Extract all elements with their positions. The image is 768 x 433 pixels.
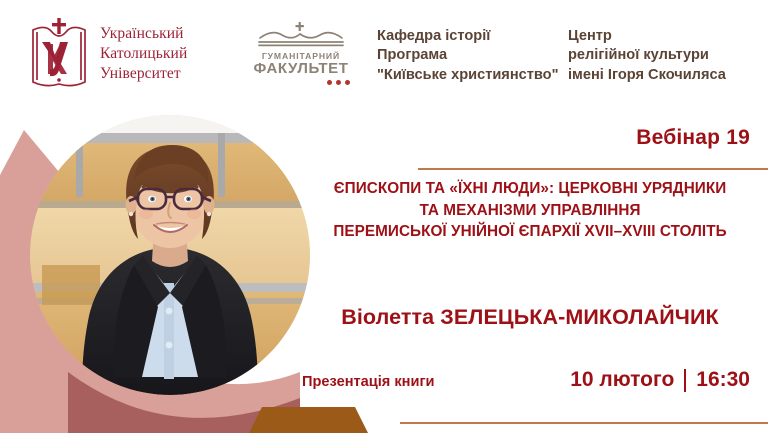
ucu-book-monogram-logo-icon [26,14,92,94]
open-book-icon [256,22,346,48]
header-dept-line-3: "Київське християнство" [377,66,559,85]
divider-top [418,168,768,170]
ucu-logo: Український Католицький Університет [26,14,187,94]
ucu-name: Український Католицький Університет [100,24,187,84]
page-title: ЄПИСКОПИ ТА «ЇХНІ ЛЮДИ»: ЦЕРКОВНІ УРЯДНИ… [292,178,768,243]
event-type-label: Презентація книги [302,374,435,390]
faculty-dots-icon [327,80,350,85]
header-center-column: Центр релігійної культури імені Ігоря Ск… [568,27,726,85]
speaker-portrait [30,115,310,395]
datetime-separator [684,369,686,392]
divider-bottom [400,422,768,424]
header-department-column: Кафедра історії Програма "Київське христ… [377,27,559,85]
header-dept-line-2: Програма [377,46,559,65]
webinar-number-label: Вебінар 19 [636,126,750,150]
event-time: 16:30 [696,368,750,392]
header-center-line-3: імені Ігоря Скочиляса [568,66,726,85]
ucu-name-line-2: Католицький [100,44,187,64]
webinar-poster: Український Католицький Університет [0,0,768,433]
humanities-faculty-logo: ГУМАНІТАРНИЙ ФАКУЛЬТЕТ [248,22,354,85]
speaker-name: Віолетта ЗЕЛЕЦЬКА-МИКОЛАЙЧИК [292,305,768,330]
header-center-line-2: релігійної культури [568,46,726,65]
header-center-line-1: Центр [568,27,726,46]
ucu-name-line-1: Український [100,24,187,44]
title-line-1: ЄПИСКОПИ ТА «ЇХНІ ЛЮДИ»: ЦЕРКОВНІ УРЯДНИ… [292,178,768,200]
event-datetime: 10 лютого 16:30 [570,368,750,392]
event-date: 10 лютого [570,368,674,392]
title-line-3: ПЕРЕМИСЬКОЇ УНІЙНОЇ ЄПАРХІЇ XVII–XVIII С… [292,221,768,243]
ucu-name-line-3: Університет [100,64,187,84]
header-dept-line-1: Кафедра історії [377,27,559,46]
poster-content: Вебінар 19 ЄПИСКОПИ ТА «ЇХНІ ЛЮДИ»: ЦЕРК… [288,112,768,433]
faculty-line-2: ФАКУЛЬТЕТ [253,61,348,77]
poster-header: Український Католицький Університет [0,0,768,112]
title-line-2: ТА МЕХАНІЗМИ УПРАВЛІННЯ [292,200,768,222]
